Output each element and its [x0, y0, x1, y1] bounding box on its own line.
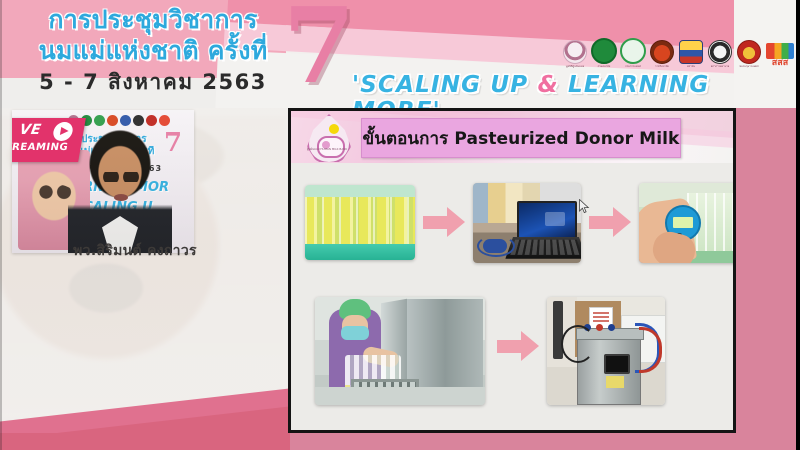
- arrow-step-1-to-2: [423, 207, 465, 237]
- process-row-top: [291, 185, 733, 271]
- slide-panel: ศูนย์นมแม่ HUMAN MILK BANK ขั้นตอนการ Pa…: [288, 108, 736, 433]
- live-badge-streaming-text: TREAMING: [12, 142, 69, 153]
- slide-header: ศูนย์นมแม่ HUMAN MILK BANK ขั้นตอนการ Pa…: [291, 111, 733, 163]
- royal-patronage-logo: มูลนิธิศูนย์นมแม่: [562, 34, 588, 68]
- royal-emblem-logo: สถาบัน: [678, 34, 704, 68]
- room-floor: [315, 387, 485, 405]
- photo-pasteurizer-machine: [547, 297, 665, 405]
- machine-knob-red: [596, 324, 603, 331]
- live-streaming-badge: VE TREAMING: [12, 118, 86, 162]
- speaker-name-label: พว.สิริมนต์ คงถาวร: [0, 240, 270, 262]
- play-icon: [52, 122, 74, 141]
- arrow-step-2-to-3: [589, 207, 631, 237]
- pediatric-society-logo: ชมรมกุมารแพทย์: [736, 34, 762, 68]
- machine-display: [604, 354, 630, 374]
- machine-label-sticker: [606, 376, 624, 388]
- slide-body: [291, 163, 733, 430]
- tagline-prefix: 'SCALING UP: [352, 72, 538, 98]
- computer-mouse: [483, 239, 507, 253]
- right-black-edge: [796, 0, 800, 450]
- department-health-logo: กรมการแพทย์: [620, 34, 646, 68]
- machine-knob-blue-right: [608, 324, 615, 331]
- conference-title-line1: การประชุมวิชาการ: [18, 4, 288, 35]
- arrow-step-4-to-5: [497, 331, 539, 361]
- slide-title-box: ขั้นตอนการ Pasteurized Donor Milk: [361, 118, 681, 158]
- bottom-pink-margin: [288, 433, 800, 450]
- tagline-ampersand: &: [538, 72, 559, 98]
- crate-bars: [305, 197, 415, 249]
- conference-title-line2: นมแม่แห่งชาติ ครั้งที่: [18, 35, 288, 66]
- nursing-council-logo: สภาการพยาบาล: [707, 34, 733, 68]
- photo-laptop-record-station: [473, 183, 581, 263]
- laptop-screen: [517, 201, 577, 241]
- droplet-yellow-dot: [329, 124, 339, 134]
- sponsor-logo-row: มูลนิธิศูนย์นมแม่ กรมอนามัย กรมการแพทย์ …: [562, 24, 796, 68]
- mouse-cursor: [579, 199, 590, 214]
- royal-college-logo: ราชวิทยาลัย: [649, 34, 675, 68]
- conference-tagline: 'SCALING UP & LEARNING MORE': [352, 72, 800, 108]
- conference-dates: 5 - 7 สิงหาคม 2563: [18, 66, 288, 99]
- presentation-stage: การประชุมวิชาการ นมแม่แห่งชาติ ครั้งที่ …: [0, 0, 800, 450]
- crate-shelf: [305, 244, 415, 260]
- conference-title: การประชุมวิชาการ นมแม่แห่งชาติ ครั้งที่: [18, 4, 288, 66]
- laptop-keyboard: [505, 237, 581, 259]
- human-milk-bank-droplet-logo: ศูนย์นมแม่ HUMAN MILK BANK: [301, 112, 353, 163]
- speaker-video-player[interactable]: การประชุมวิชาการ นมแม่แห่งชาติ ครั้งที่ …: [12, 110, 194, 253]
- ministry-public-health-logo: กรมอนามัย: [591, 34, 617, 68]
- live-badge-live-text: VE: [18, 122, 42, 138]
- left-black-edge: [0, 0, 2, 450]
- bottom-left-pink-margin: [0, 433, 290, 450]
- process-row-bottom: [291, 295, 733, 415]
- live-stream-column: การประชุมวิชาการ นมแม่แห่งชาติ ครั้งที่ …: [0, 108, 288, 450]
- photo-temperature-probe-check: [639, 183, 736, 263]
- black-power-cord: [561, 325, 595, 363]
- right-pink-margin: [736, 108, 800, 450]
- conference-header-banner: การประชุมวิชาการ นมแม่แห่งชาติ ครั้งที่ …: [0, 0, 800, 108]
- edition-number: 7: [283, 0, 355, 98]
- slide-title: ขั้นตอนการ Pasteurized Donor Milk: [363, 125, 680, 152]
- logo-caption: ศูนย์นมแม่ HUMAN MILK BANK: [303, 148, 351, 162]
- photo-nurse-loading-pasteurizer: [315, 297, 485, 405]
- photo-milk-bottle-crates: [305, 185, 415, 260]
- thai-health-sss-logo: สสส: [765, 34, 795, 68]
- face-mask-icon: [341, 326, 369, 340]
